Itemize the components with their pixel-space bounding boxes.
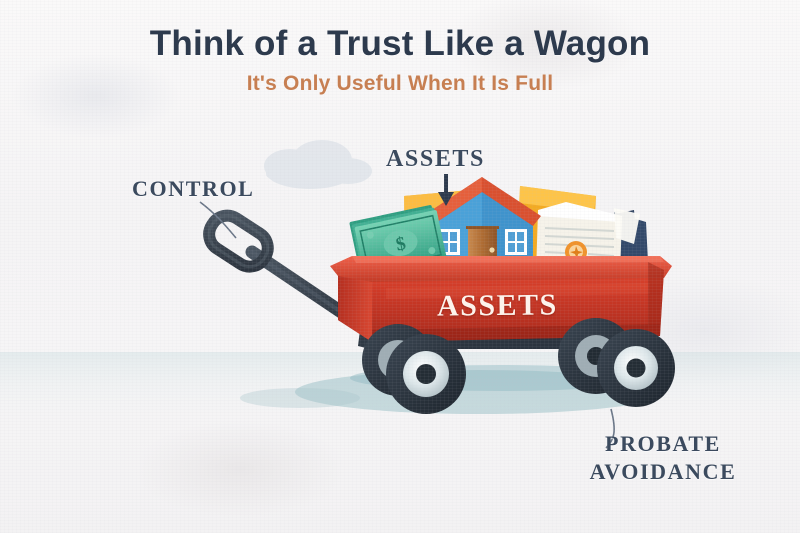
page-subtitle: It's Only Useful When It Is Full — [0, 72, 800, 96]
callout-label-control: CONTROL — [132, 175, 254, 203]
callout-label-probate-line1: PROBATE — [568, 430, 758, 458]
poster-canvas: $ — [0, 0, 800, 533]
wheel-front-outer — [386, 334, 466, 414]
house-window-right — [505, 229, 527, 255]
wheel-rear-outer — [597, 329, 675, 407]
callout-label-probate-line2: AVOIDANCE — [568, 458, 758, 486]
callout-label-probate: PROBATE AVOIDANCE — [568, 430, 758, 485]
page-title: Think of a Trust Like a Wagon — [0, 24, 800, 64]
wagon-body-label: ASSETS — [437, 288, 558, 323]
callout-label-assets: ASSETS — [386, 144, 485, 174]
cloud-icon — [264, 140, 372, 189]
